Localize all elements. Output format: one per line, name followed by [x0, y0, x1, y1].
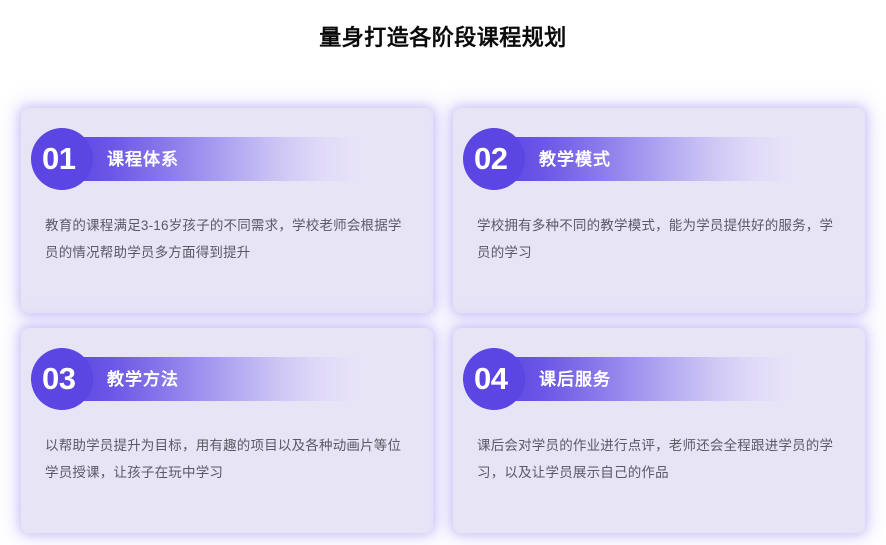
card-description: 课后会对学员的作业进行点评，老师还会全程跟进学员的学习，以及让学员展示自己的作品 — [477, 432, 841, 486]
course-stage-card-grid: 01 课程体系 教育的课程满足3-16岁孩子的不同需求，学校老师会根据学员的情况… — [21, 108, 865, 533]
card-badge-03: 03 教学方法 — [31, 348, 363, 410]
card-badge-01: 01 课程体系 — [31, 128, 363, 190]
card-heading: 教学方法 — [107, 366, 179, 394]
card-number: 02 — [474, 139, 536, 179]
card-badge-02: 02 教学模式 — [463, 128, 795, 190]
card-description: 学校拥有多种不同的教学模式，能为学员提供好的服务，学员的学习 — [477, 212, 841, 266]
course-card-02[interactable]: 02 教学模式 学校拥有多种不同的教学模式，能为学员提供好的服务，学员的学习 — [453, 108, 865, 313]
card-number: 03 — [42, 359, 104, 399]
card-heading: 课程体系 — [107, 146, 179, 174]
card-number: 04 — [474, 359, 536, 399]
course-card-03[interactable]: 03 教学方法 以帮助学员提升为目标，用有趣的项目以及各种动画片等位学员授课，让… — [21, 328, 433, 533]
course-card-04[interactable]: 04 课后服务 课后会对学员的作业进行点评，老师还会全程跟进学员的学习，以及让学… — [453, 328, 865, 533]
card-badge-04: 04 课后服务 — [463, 348, 795, 410]
card-description: 以帮助学员提升为目标，用有趣的项目以及各种动画片等位学员授课，让孩子在玩中学习 — [45, 432, 409, 486]
card-description: 教育的课程满足3-16岁孩子的不同需求，学校老师会根据学员的情况帮助学员多方面得… — [45, 212, 409, 266]
page-title: 量身打造各阶段课程规划 — [0, 23, 886, 53]
card-heading: 教学模式 — [539, 146, 611, 174]
card-number: 01 — [42, 139, 104, 179]
card-heading: 课后服务 — [539, 366, 611, 394]
course-card-01[interactable]: 01 课程体系 教育的课程满足3-16岁孩子的不同需求，学校老师会根据学员的情况… — [21, 108, 433, 313]
